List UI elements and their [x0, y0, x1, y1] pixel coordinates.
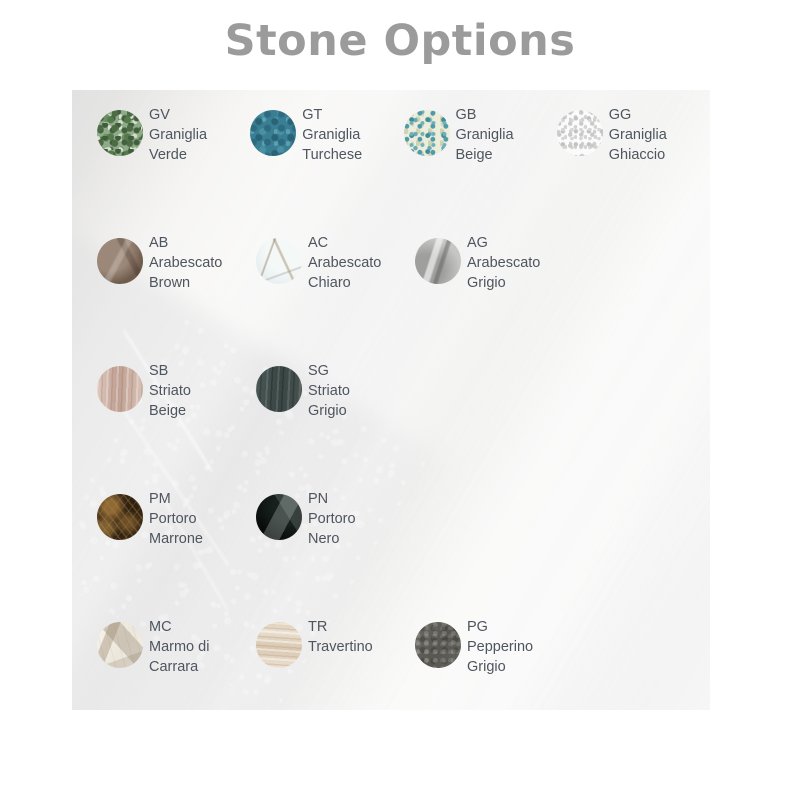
stone-option-sb[interactable]: SB Striato Beige — [97, 360, 256, 421]
stone-option-label: PM Portoro Marrone — [149, 488, 203, 549]
stone-option-gv[interactable]: GV Graniglia Verde — [97, 104, 250, 165]
stone-option-pn[interactable]: PN Portoro Nero — [256, 488, 415, 549]
stone-option-label: SG Striato Grigio — [308, 360, 350, 421]
stone-option-pg[interactable]: PG Pepperino Grigio — [415, 616, 574, 677]
stone-option-pm[interactable]: PM Portoro Marrone — [97, 488, 256, 549]
swatch-portoro-marrone-icon[interactable] — [97, 494, 143, 540]
stone-option-label: GG Graniglia Ghiaccio — [609, 104, 667, 165]
stone-row-2: AB Arabescato Brown AC Arabescato Chiaro… — [97, 232, 710, 360]
swatch-striato-grigio-icon[interactable] — [256, 366, 302, 412]
stone-row-1: GV Graniglia Verde GT Graniglia Turchese… — [97, 104, 710, 232]
swatch-graniglia-turchese-icon[interactable] — [250, 110, 296, 156]
page-title: Stone Options — [0, 16, 800, 66]
stone-option-label: GB Graniglia Beige — [456, 104, 514, 165]
stone-option-label: SB Striato Beige — [149, 360, 191, 421]
swatch-arabescato-chiaro-icon[interactable] — [256, 238, 302, 284]
swatch-marmo-di-carrara-icon[interactable] — [97, 622, 143, 668]
swatch-graniglia-verde-icon[interactable] — [97, 110, 143, 156]
stone-option-ag[interactable]: AG Arabescato Grigio — [415, 232, 574, 293]
stone-option-label: PG Pepperino Grigio — [467, 616, 533, 677]
stone-row-5: MC Marmo di Carrara TR Travertino PG Pep… — [97, 616, 710, 710]
swatch-striato-beige-icon[interactable] — [97, 366, 143, 412]
stone-option-label: AC Arabescato Chiaro — [308, 232, 381, 293]
stone-option-label: AB Arabescato Brown — [149, 232, 222, 293]
swatch-pepperino-grigio-icon[interactable] — [415, 622, 461, 668]
stone-option-ac[interactable]: AC Arabescato Chiaro — [256, 232, 415, 293]
swatch-travertino-icon[interactable] — [256, 622, 302, 668]
swatch-graniglia-ghiaccio-icon[interactable] — [557, 110, 603, 156]
stone-option-label: TR Travertino — [308, 616, 373, 657]
stone-option-label: PN Portoro Nero — [308, 488, 356, 549]
stone-option-gb[interactable]: GB Graniglia Beige — [404, 104, 557, 165]
stone-option-tr[interactable]: TR Travertino — [256, 616, 415, 668]
stone-options-panel: GV Graniglia Verde GT Graniglia Turchese… — [72, 90, 710, 710]
stone-option-label: MC Marmo di Carrara — [149, 616, 209, 677]
stone-option-label: GV Graniglia Verde — [149, 104, 207, 165]
stone-row-3: SB Striato Beige SG Striato Grigio — [97, 360, 710, 488]
swatch-graniglia-beige-icon[interactable] — [404, 110, 450, 156]
swatch-arabescato-grigio-icon[interactable] — [415, 238, 461, 284]
stone-option-sg[interactable]: SG Striato Grigio — [256, 360, 415, 421]
swatch-arabescato-brown-icon[interactable] — [97, 238, 143, 284]
stone-option-gt[interactable]: GT Graniglia Turchese — [250, 104, 403, 165]
stone-row-4: PM Portoro Marrone PN Portoro Nero — [97, 488, 710, 616]
stone-option-gg[interactable]: GG Graniglia Ghiaccio — [557, 104, 710, 165]
stone-option-label: GT Graniglia Turchese — [302, 104, 362, 165]
stone-options-grid: GV Graniglia Verde GT Graniglia Turchese… — [72, 90, 710, 710]
stone-option-ab[interactable]: AB Arabescato Brown — [97, 232, 256, 293]
swatch-portoro-nero-icon[interactable] — [256, 494, 302, 540]
stone-option-label: AG Arabescato Grigio — [467, 232, 540, 293]
stone-option-mc[interactable]: MC Marmo di Carrara — [97, 616, 256, 677]
